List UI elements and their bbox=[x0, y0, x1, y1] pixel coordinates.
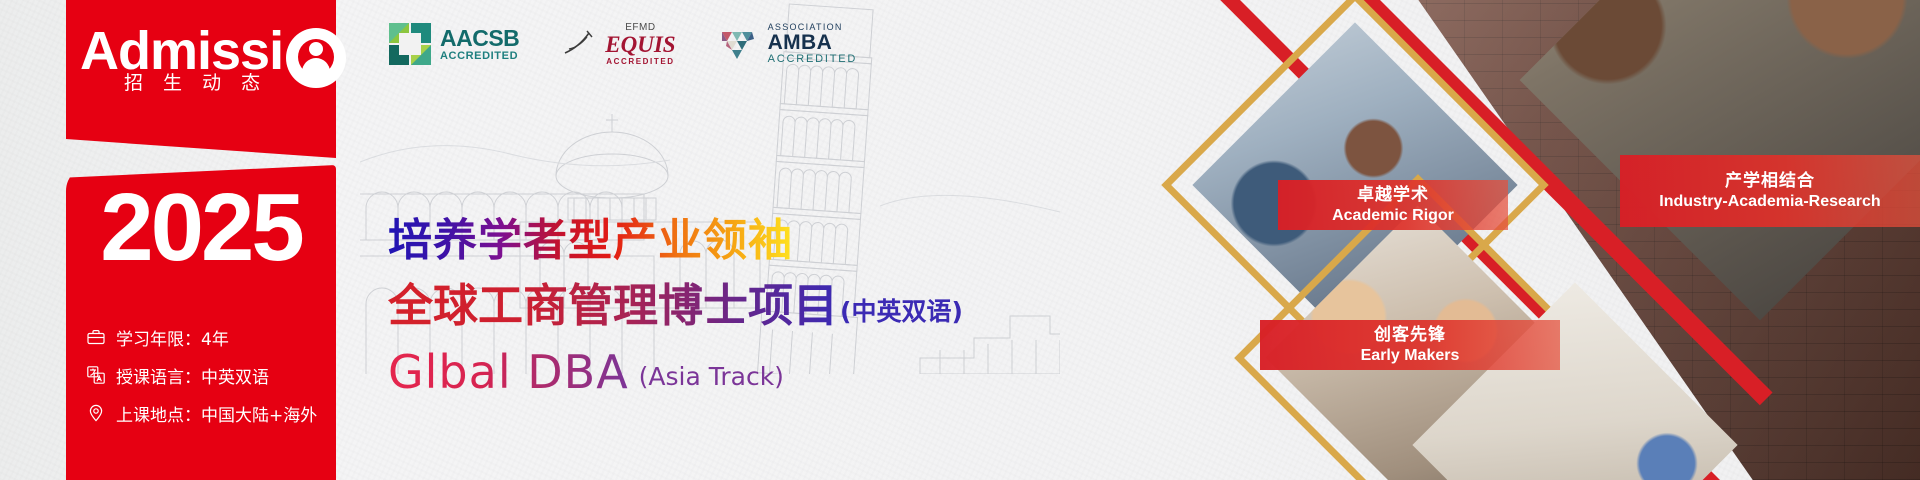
info-label-location: 上课地点：中国大陆+海外 bbox=[116, 401, 317, 426]
equis-name: EQUIS bbox=[605, 33, 675, 56]
person-glyph-icon bbox=[298, 42, 334, 82]
amba-status: ACCREDITED bbox=[768, 54, 858, 65]
program-info-list: 学习年限：4年 授课语言：中英双语 bbox=[86, 318, 336, 432]
info-label-duration: 学习年限：4年 bbox=[116, 325, 229, 350]
program-name-cn-note: (中英双语) bbox=[840, 292, 963, 333]
info-row-location: 上课地点：中国大陆+海外 bbox=[86, 394, 336, 432]
admission-banner: AACSB ACCREDITED EFMD EQUIS ACCREDITED bbox=[0, 0, 1920, 480]
photo-collage: 卓越学术 Academic Rigor 产学相结合 Industry-Acade… bbox=[1160, 0, 1920, 480]
admission-subtitle: 招 生 动 态 bbox=[124, 68, 267, 95]
aacsb-logo-icon bbox=[388, 22, 432, 66]
caption-cn-industry: 产学相结合 bbox=[1725, 171, 1815, 192]
amba-diamond-icon bbox=[720, 26, 760, 62]
translate-icon bbox=[86, 365, 106, 385]
amba-wordmark: ASSOCIATION AMBA ACCREDITED bbox=[768, 23, 858, 65]
year-label: 2025 bbox=[66, 178, 336, 278]
info-row-language: 授课语言：中英双语 bbox=[86, 356, 336, 394]
program-name-cn: 全球工商管理博士项目 bbox=[388, 279, 838, 333]
left-red-panel: Admissi 招 生 动 态 2025 学习年限：4年 bbox=[66, 0, 336, 480]
caption-early-makers: 创客先锋 Early Makers bbox=[1260, 320, 1560, 370]
efmd-label: EFMD bbox=[605, 23, 675, 33]
equis-logo: EFMD EQUIS ACCREDITED bbox=[563, 23, 675, 66]
amba-name: AMBA bbox=[768, 32, 858, 53]
admission-badge: Admissi 招 生 动 态 bbox=[80, 22, 336, 108]
accreditation-logos: AACSB ACCREDITED EFMD EQUIS ACCREDITED bbox=[388, 22, 857, 66]
caption-industry-academia: 产学相结合 Industry-Academia-Research bbox=[1620, 155, 1920, 227]
equis-status: ACCREDITED bbox=[605, 58, 675, 66]
aacsb-status: ACCREDITED bbox=[440, 51, 519, 62]
aacsb-name: AACSB bbox=[440, 27, 519, 50]
program-track-note: (Asia Track) bbox=[639, 362, 784, 397]
headline-tagline: 培养学者型产业领袖 bbox=[388, 215, 793, 267]
info-row-duration: 学习年限：4年 bbox=[86, 318, 336, 356]
caption-en-industry: Industry-Academia-Research bbox=[1659, 192, 1880, 211]
program-name-en: Glbal DBA bbox=[388, 347, 629, 397]
aacsb-logo: AACSB ACCREDITED bbox=[388, 22, 519, 66]
briefcase-icon bbox=[86, 327, 106, 347]
aacsb-wordmark: AACSB ACCREDITED bbox=[440, 27, 519, 62]
location-pin-icon bbox=[86, 403, 106, 423]
amba-logo: ASSOCIATION AMBA ACCREDITED bbox=[720, 23, 858, 65]
caption-en-makers: Early Makers bbox=[1361, 346, 1460, 365]
caption-cn-makers: 创客先锋 bbox=[1374, 325, 1446, 346]
caption-en-academic: Academic Rigor bbox=[1332, 206, 1454, 225]
efmd-swoosh-icon bbox=[563, 29, 597, 59]
caption-cn-academic: 卓越学术 bbox=[1357, 185, 1429, 206]
caption-academic-rigor: 卓越学术 Academic Rigor bbox=[1278, 180, 1508, 230]
equis-wordmark: EFMD EQUIS ACCREDITED bbox=[605, 23, 675, 66]
title-block: 培养学者型产业领袖 全球工商管理博士项目 (中英双语) Glbal DBA (A… bbox=[388, 215, 1148, 397]
info-label-language: 授课语言：中英双语 bbox=[116, 363, 269, 388]
